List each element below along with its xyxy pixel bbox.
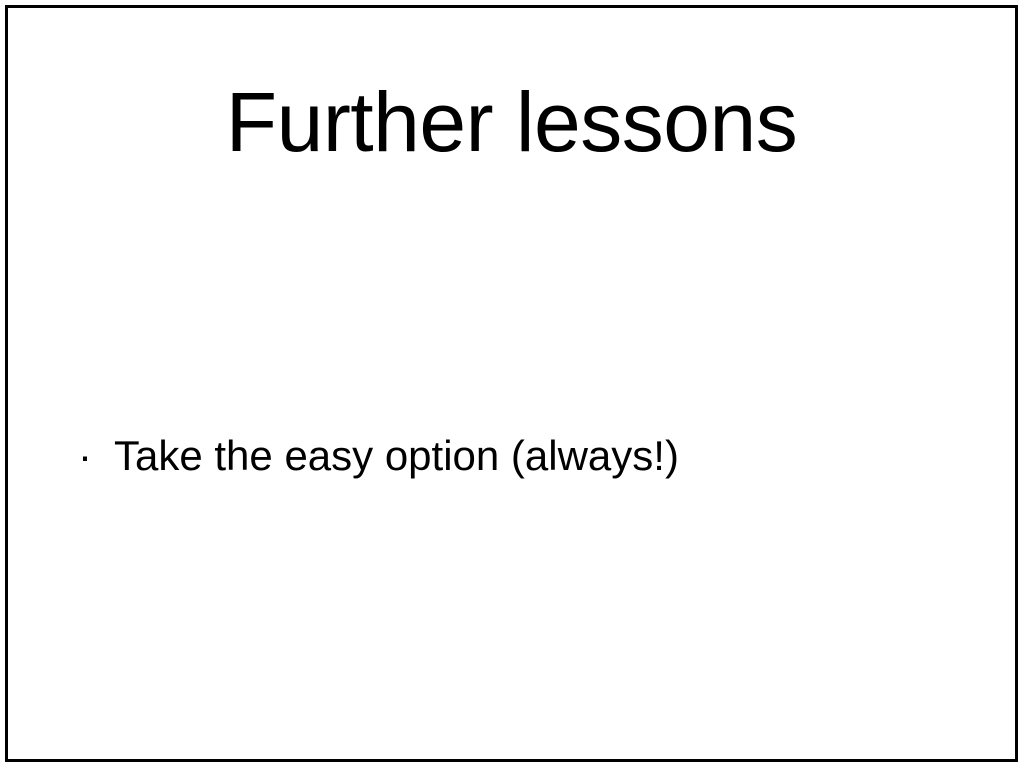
list-item: · Take the easy option (always!) xyxy=(70,428,950,484)
bullet-dot-icon: · xyxy=(78,428,100,484)
bullet-item-label: Take the easy option (always!) xyxy=(114,432,679,479)
bullet-list: · Take the easy option (always!) xyxy=(70,428,950,484)
slide-title: Further lessons xyxy=(8,74,1015,170)
slide-content-area: Further lessons · Take the easy option (… xyxy=(8,8,1015,759)
presentation-slide: Further lessons · Take the easy option (… xyxy=(0,0,1024,768)
